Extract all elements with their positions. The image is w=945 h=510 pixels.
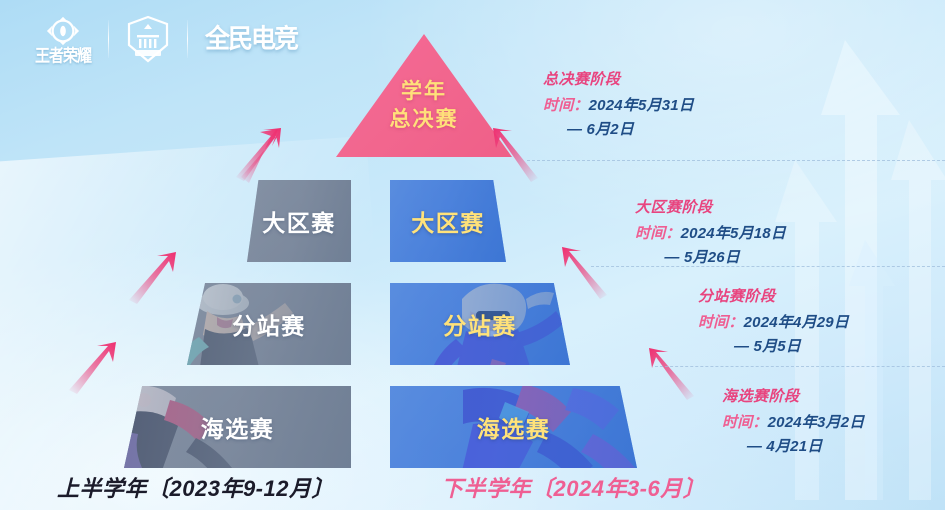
tier-label-left-division: 分站赛 (232, 307, 306, 341)
caption-second-half-year: 下半学年〔2024年3-6月〕 (441, 471, 705, 503)
stage-info-finals: 总决赛阶段 时间：2024年5月31日 — 6月2日 (543, 68, 694, 143)
header-logo-bar: 王者荣耀 全民电竞 (18, 8, 314, 70)
tier-label-left-qualifier: 海选赛 (201, 410, 275, 444)
pyramid-apex-line1: 学年 (336, 78, 512, 106)
stage-time-row-qualifier: 时间：2024年3月2日 (722, 411, 864, 435)
stage-time-key: 时间： (635, 225, 681, 242)
tier-label-left-regional: 大区赛 (262, 204, 336, 238)
stage-time-row2-finals: — 6月2日 (543, 118, 694, 142)
logo-honor-of-kings: 王者荣耀 (18, 14, 108, 64)
stage-time-value: 2024年3月2日 (768, 414, 865, 431)
stage-info-division: 分站赛阶段 时间：2024年4月29日 — 5月5日 (698, 285, 849, 360)
arrow-up-left-side-icon (69, 342, 116, 394)
pyramid-tier-left-division: 分站赛 (187, 283, 351, 365)
separator-dashed-3 (655, 366, 945, 367)
tier-label-right-qualifier: 海选赛 (477, 410, 551, 444)
stage-time-row-division: 时间：2024年4月29日 (698, 311, 849, 335)
stage-info-qualifier: 海选赛阶段 时间：2024年3月2日 — 4月21日 (722, 385, 864, 460)
stage-title-finals: 总决赛阶段 (543, 68, 694, 89)
pyramid-tier-left-regional: 大区赛 (247, 180, 351, 262)
arrow-up-left-side-icon (129, 252, 176, 304)
logo-national-esports-label: 全民电竞 (205, 26, 297, 52)
kog-emblem-icon (44, 14, 82, 48)
logo-honor-of-kings-label: 王者荣耀 (35, 48, 91, 65)
stage-time-value: 2024年5月18日 (681, 225, 786, 242)
pyramid-tier-right-regional: 大区赛 (390, 180, 506, 262)
infographic-canvas: 王者荣耀 全民电竞 学年 总决赛 (0, 0, 945, 510)
stage-time-value-2: — 5月26日 (664, 249, 740, 266)
stage-title-qualifier: 海选赛阶段 (722, 385, 864, 406)
stage-time-row2-division: — 5月5日 (698, 335, 849, 359)
logo-campus-league (109, 15, 187, 63)
stage-time-key: 时间： (543, 97, 589, 114)
tier-label-right-division: 分站赛 (443, 307, 517, 341)
pyramid-tier-right-division: 分站赛 (390, 283, 570, 365)
stage-time-row2-qualifier: — 4月21日 (722, 435, 864, 459)
stage-time-value: 2024年5月31日 (589, 97, 694, 114)
stage-info-regional: 大区赛阶段 时间：2024年5月18日 — 5月26日 (635, 196, 786, 271)
separator-dashed-1 (527, 160, 945, 161)
caption-first-half-year: 上半学年〔2023年9-12月〕 (57, 471, 334, 503)
stage-time-row-regional: 时间：2024年5月18日 (635, 222, 786, 246)
pyramid-tier-left-qualifier: 海选赛 (124, 386, 351, 468)
arrow-up-right-side-icon (649, 348, 694, 400)
stage-time-value-2: — 4月21日 (747, 438, 823, 455)
stage-time-row-finals: 时间：2024年5月31日 (543, 94, 694, 118)
stage-title-division: 分站赛阶段 (698, 285, 849, 306)
stage-time-value-2: — 6月2日 (567, 121, 634, 138)
pyramid-apex-label: 学年 总决赛 (336, 78, 512, 135)
arrow-up-left-side-icon (236, 128, 281, 183)
arrow-up-right-side-icon (562, 247, 607, 299)
shield-emblem-icon (126, 15, 170, 63)
tier-label-right-regional: 大区赛 (411, 204, 485, 238)
stage-time-row2-regional: — 5月26日 (635, 246, 786, 270)
stage-time-value-2: — 5月5日 (734, 338, 801, 355)
pyramid-tier-right-qualifier: 海选赛 (390, 386, 637, 468)
stage-time-value: 2024年4月29日 (744, 314, 849, 331)
pyramid-apex-line2: 总决赛 (336, 106, 512, 134)
stage-time-key: 时间： (722, 414, 768, 431)
logo-national-esports: 全民电竞 (188, 27, 314, 52)
stage-time-key: 时间： (698, 314, 744, 331)
stage-title-regional: 大区赛阶段 (635, 196, 786, 217)
